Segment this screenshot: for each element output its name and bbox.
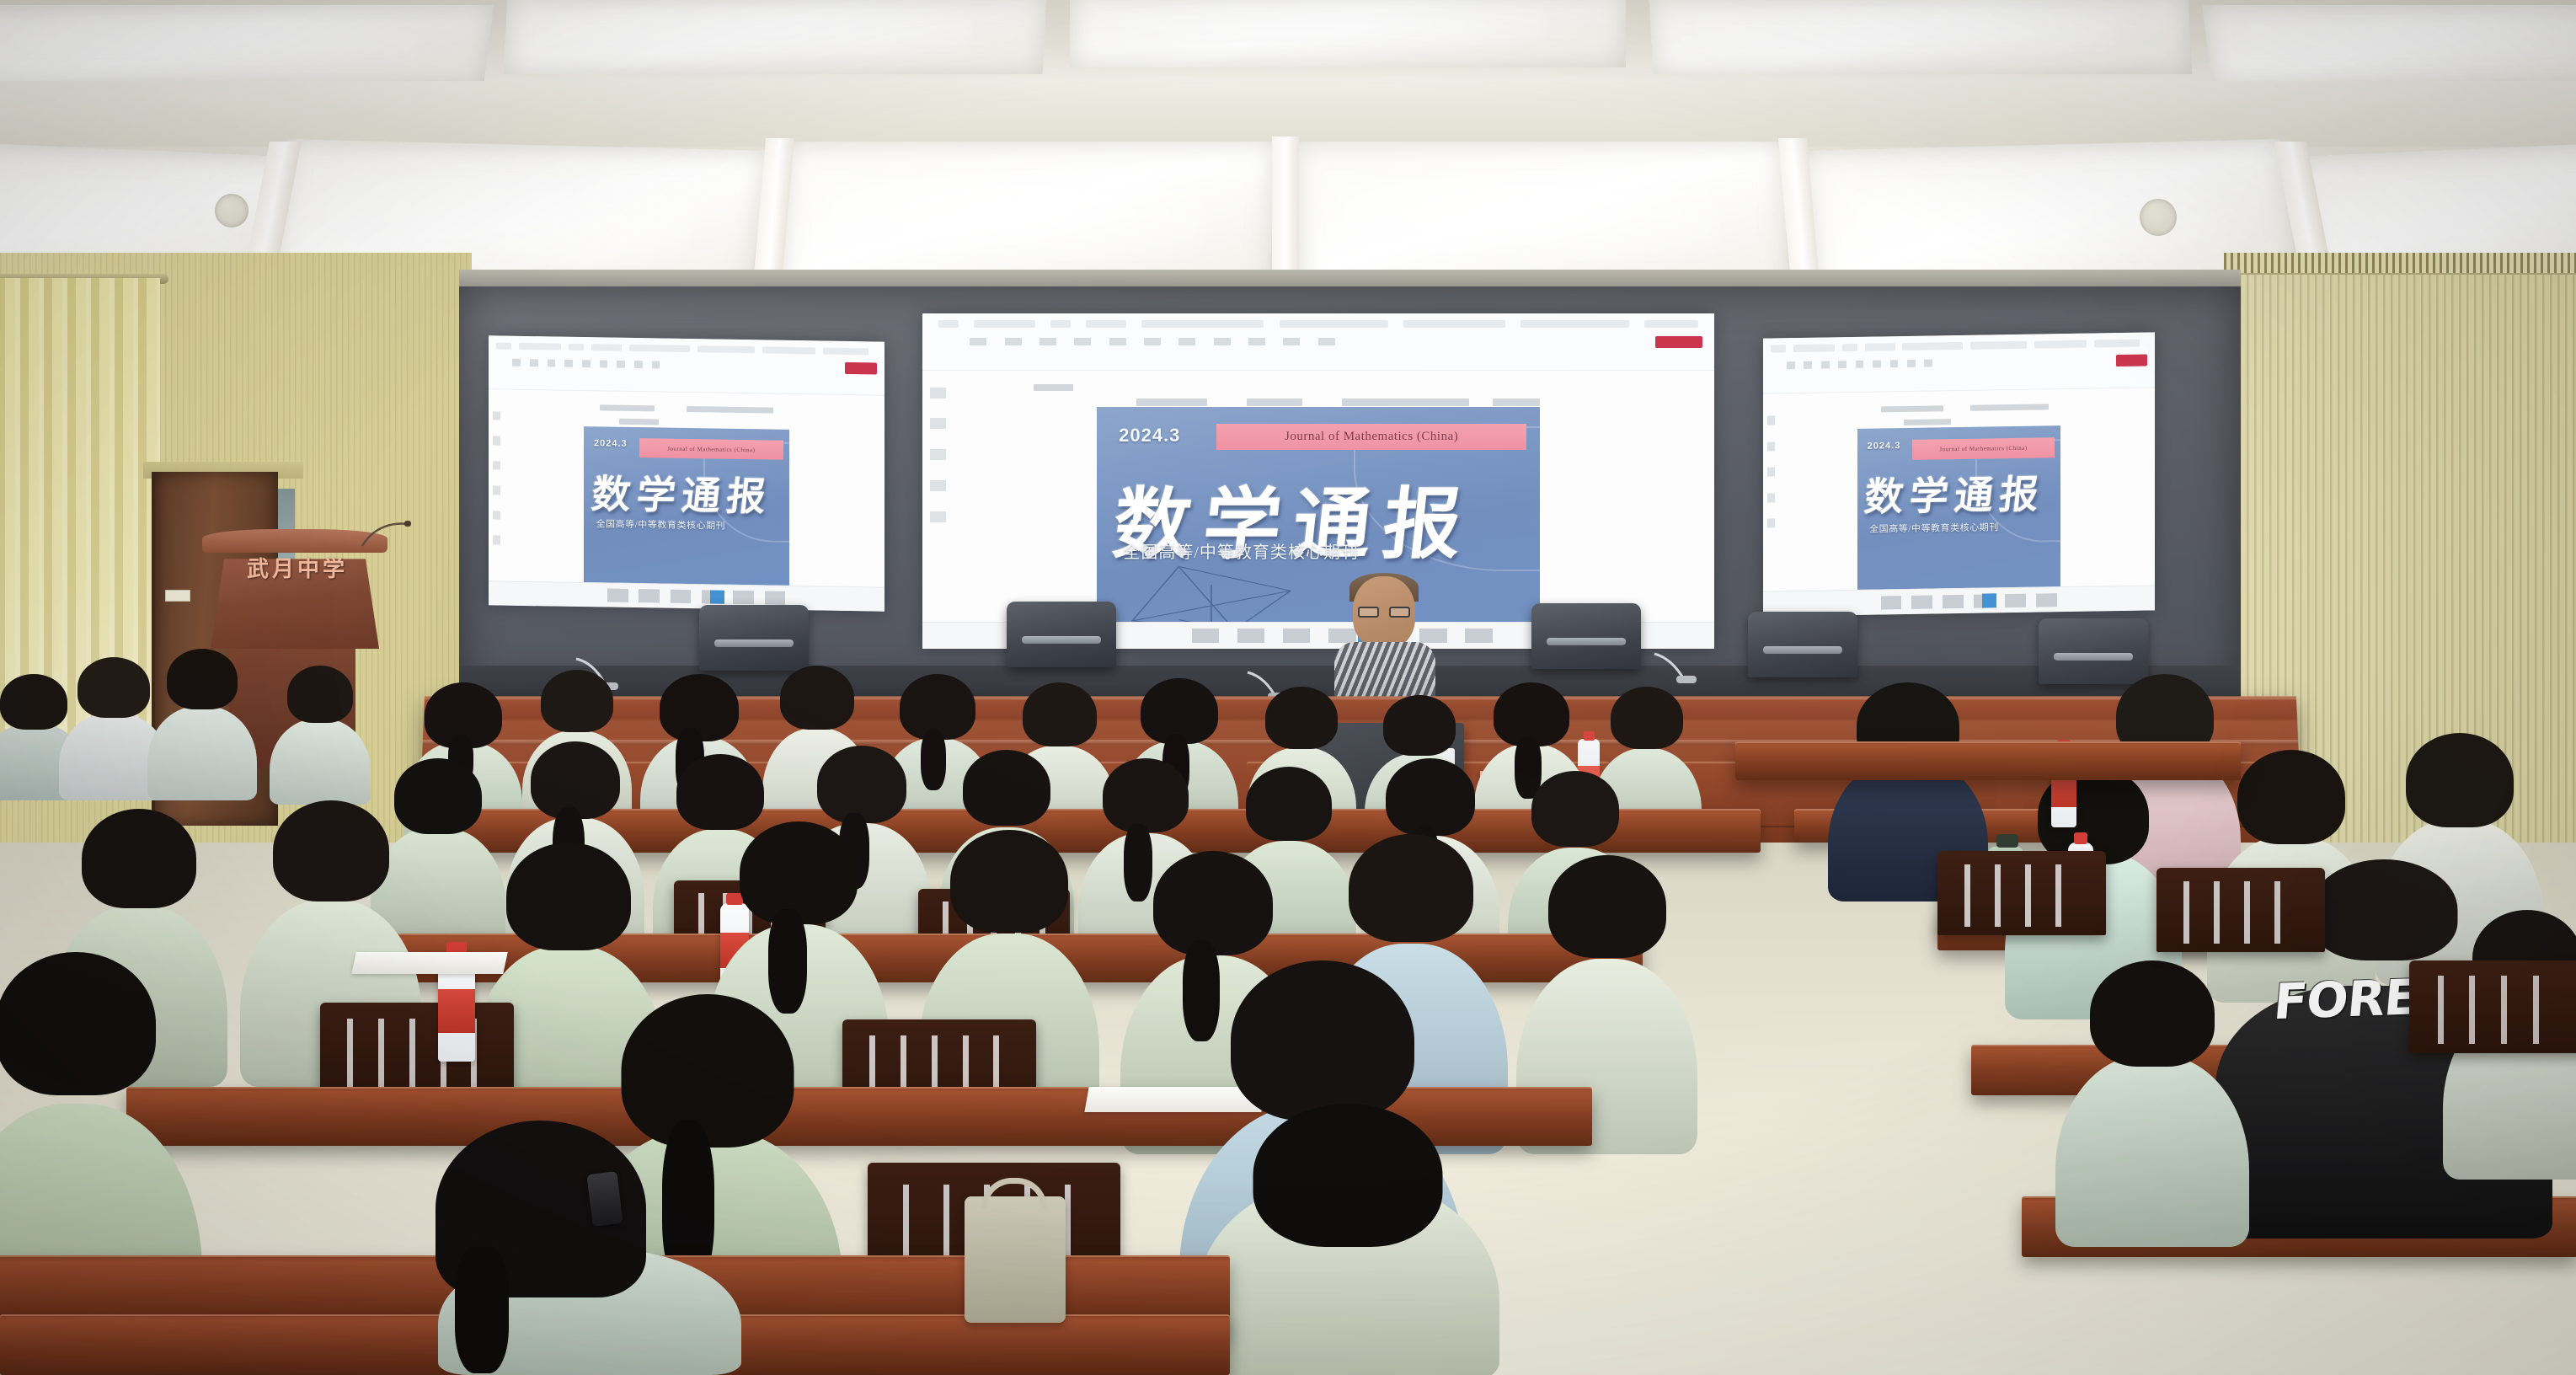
toolbar-tabs bbox=[938, 318, 1698, 330]
cover-english-title: Journal of Mathematics (China) bbox=[1285, 430, 1458, 444]
toolbar-tabs bbox=[496, 340, 876, 357]
toolbar-icons bbox=[970, 336, 1666, 347]
audience-person-with-phone bbox=[438, 1121, 741, 1375]
thermos-cap bbox=[1996, 834, 2018, 848]
cover-issue-number: 2024.3 bbox=[1119, 425, 1180, 447]
cover-english-title-band: Journal of Mathematics (China) bbox=[639, 438, 783, 460]
ceiling-coffer bbox=[2202, 5, 2576, 86]
screen-window-center[interactable]: 2024.3 Journal of Mathematics (China) 数学… bbox=[922, 313, 1714, 649]
tote-bag bbox=[965, 1196, 1066, 1323]
share-button[interactable] bbox=[1655, 336, 1702, 349]
slide-thumbnail-rail[interactable] bbox=[930, 388, 946, 609]
presentation-mode-icon[interactable] bbox=[1982, 593, 1996, 607]
screen-window-left[interactable]: 2024.3 Journal of Mathematics (China) 数学… bbox=[489, 335, 884, 611]
ceiling-coffer bbox=[0, 5, 494, 86]
ceiling-speaker-icon bbox=[2140, 199, 2177, 236]
audience-person bbox=[270, 666, 371, 805]
window-toolbar bbox=[922, 313, 1714, 371]
share-button[interactable] bbox=[845, 362, 877, 374]
podium-top-ledge bbox=[202, 529, 387, 553]
slide-thumbnail-rail[interactable] bbox=[1767, 416, 1775, 600]
presentation-mode-icon[interactable] bbox=[710, 590, 724, 604]
door-sign-plate bbox=[165, 590, 190, 602]
eyeglasses-icon bbox=[1358, 607, 1410, 618]
cover-english-title: Journal of Mathematics (China) bbox=[1939, 444, 2027, 452]
cover-chinese-title: 数学通报 bbox=[589, 463, 784, 522]
stage-monitor bbox=[1748, 612, 1857, 677]
cover-english-title-band: Journal of Mathematics (China) bbox=[1216, 424, 1526, 450]
share-button[interactable] bbox=[2116, 354, 2147, 366]
bench-chair-back bbox=[1937, 851, 2106, 935]
papers-on-desk bbox=[351, 952, 508, 974]
lecture-hall-photo: 武月中学 bbox=[0, 0, 2576, 1375]
stage-monitor bbox=[699, 605, 809, 671]
audience-person bbox=[2055, 960, 2249, 1247]
toolbar-icons bbox=[1787, 355, 2131, 371]
podium-venue-sign: 武月中学 bbox=[226, 552, 369, 583]
bench-chair-back bbox=[2409, 960, 2576, 1053]
slide-thumbnail-rail[interactable] bbox=[493, 411, 500, 589]
stage-monitor bbox=[1531, 603, 1641, 669]
bench-chair-back bbox=[2156, 868, 2325, 952]
ceiling-coffer bbox=[504, 0, 1047, 74]
cover-geometry-diagram bbox=[1123, 548, 1309, 633]
journal-cover-slide: 2024.3 Journal of Mathematics (China) 数学… bbox=[1097, 407, 1540, 642]
cover-issue-number: 2024.3 bbox=[1868, 441, 1901, 452]
rear-bench bbox=[1735, 741, 2241, 780]
audience-person bbox=[147, 649, 257, 800]
window-status-bar bbox=[489, 581, 884, 612]
cover-subtitle: 全国高等/中等教育类核心期刊 bbox=[1869, 519, 2053, 535]
cover-issue-number: 2024.3 bbox=[594, 438, 628, 449]
smartphone[interactable] bbox=[586, 1171, 623, 1227]
ceiling-coffer bbox=[1649, 0, 2193, 74]
screen-window-right[interactable]: 2024.3 Journal of Mathematics (China) 数学… bbox=[1763, 332, 2155, 616]
audience-person bbox=[1196, 1104, 1499, 1375]
window-toolbar bbox=[1763, 332, 2155, 393]
cover-subtitle: 全国高等/中等教育类核心期刊 bbox=[596, 516, 781, 532]
cover-english-title: Journal of Mathematics (China) bbox=[667, 445, 755, 453]
ceiling-coffer bbox=[1070, 0, 1626, 67]
wall-right-cornice bbox=[2224, 253, 2576, 275]
stage-monitor bbox=[1007, 602, 1116, 667]
journal-cover-slide: 2024.3 Journal of Mathematics (China) 数学… bbox=[1857, 425, 2061, 596]
toolbar-icons bbox=[512, 357, 861, 373]
journal-cover-slide: 2024.3 Journal of Mathematics (China) 数学… bbox=[584, 426, 789, 591]
window-toolbar bbox=[489, 335, 884, 395]
toolbar-tabs bbox=[1771, 337, 2146, 355]
gooseneck-microphone-icon bbox=[1651, 647, 1718, 684]
cover-english-title-band: Journal of Mathematics (China) bbox=[1912, 437, 2055, 459]
cover-chinese-title: 数学通报 bbox=[1863, 464, 2055, 523]
podium-microphone-icon bbox=[361, 521, 411, 551]
ceiling-speaker-icon bbox=[215, 194, 249, 227]
